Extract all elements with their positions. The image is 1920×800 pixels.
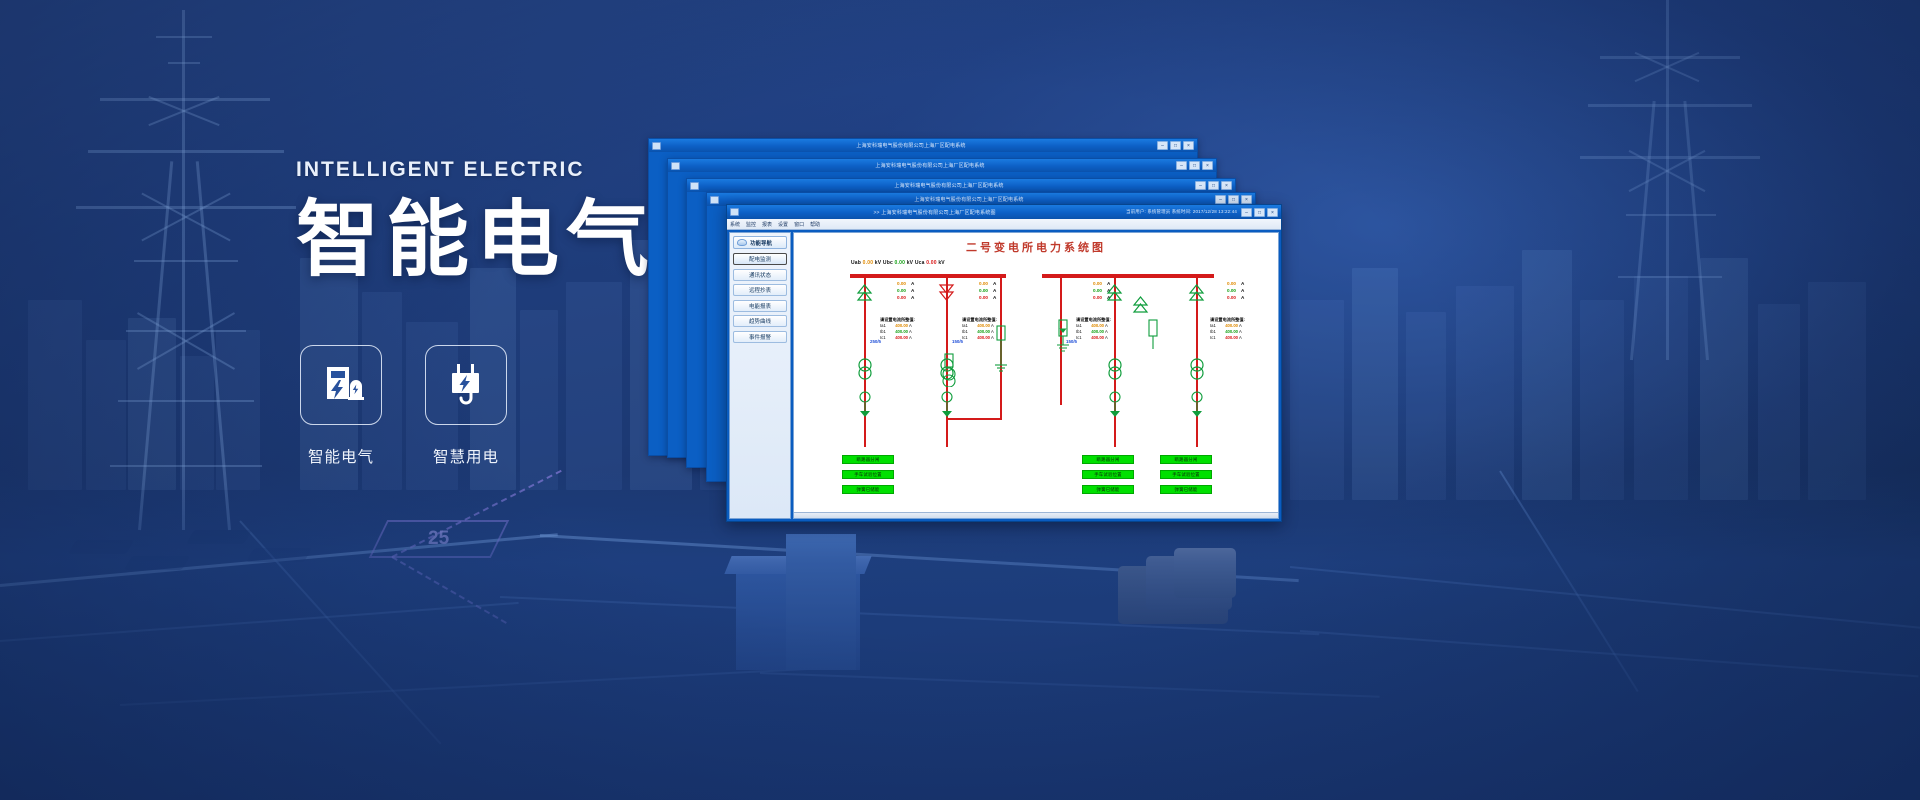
window-3-title: 上海安科瑞电气股份有限公司上海厂区配电系统 — [703, 182, 1195, 189]
disconnector-symbol-4[interactable] — [1188, 283, 1205, 314]
voltage-unit-ubc: kV — [907, 260, 914, 266]
maximize-icon[interactable]: □ — [1189, 161, 1200, 170]
close-icon[interactable]: × — [1241, 195, 1252, 204]
voltage-unit-uab: kV — [875, 260, 882, 266]
close-icon[interactable]: × — [1221, 181, 1232, 190]
menu-item-report[interactable]: 报表 — [762, 221, 772, 228]
sidebar-item-label: 事件报警 — [749, 333, 771, 341]
feature-smart-electric-label: 智能电气 — [308, 445, 374, 467]
main-menubar[interactable]: 系统 监控 报表 设置 窗口 帮助 — [727, 219, 1281, 230]
feeder-4-ic: 0.00 — [1214, 294, 1236, 301]
nav-header-label: 功能导航 — [750, 239, 772, 247]
voltage-value-ubc: 0.00 — [895, 260, 906, 266]
status-chip-breaker-open[interactable]: 断路器分闸 — [842, 455, 894, 464]
disconnector-symbol-1[interactable] — [856, 283, 873, 314]
feeder-2-currents: 0.00A 0.00A 0.00A — [966, 280, 996, 301]
disconnector-symbol-2[interactable] — [938, 283, 955, 314]
window-2-app-icon — [671, 162, 680, 170]
main-window-status: 当前用户: 系统管理员 系统时间: 2017/12/28 13:22:44 — [1126, 209, 1237, 215]
voltage-label-uca: Uca — [915, 260, 925, 266]
bus-voltage-readout: Uab 0.00 kV Ubc 0.00 kV Uca 0.00 kV — [851, 260, 945, 266]
load-arrow-3[interactable] — [1106, 391, 1124, 422]
feeder-3-ib: 0.00 — [1080, 287, 1102, 294]
busbar-right — [1042, 274, 1214, 278]
ct-symbol-4[interactable] — [1188, 357, 1206, 386]
sidebar-item-energy-report[interactable]: 电能报表 — [733, 300, 787, 312]
feeder-4-currents: 0.00A 0.00A 0.00A — [1214, 280, 1244, 301]
feature-smart-power-use-label: 智慧用电 — [433, 445, 499, 467]
feeder-4-ib: 0.00 — [1214, 287, 1236, 294]
status-group-mid: 断路器分闸 手车试验位置 弹簧已储能 — [1082, 455, 1134, 494]
charging-pile-icon — [317, 359, 365, 412]
window-1-titlebar[interactable]: 上海安科瑞电气股份有限公司上海厂区配电系统 – □ × — [649, 139, 1197, 152]
status-chip-spring-charged[interactable]: 弹簧已储能 — [1082, 485, 1134, 494]
status-chip-spring-charged[interactable]: 弹簧已储能 — [1160, 485, 1212, 494]
feeder-1-ic: 0.00 — [884, 294, 906, 301]
function-navigation-pane: 功能导航 配电监测 通讯状态 远程抄表 电能报表 趋势曲线 事件 — [729, 232, 791, 519]
voltage-label-uab: Uab — [851, 260, 861, 266]
main-window-titlebar[interactable]: >> 上海安科瑞电气股份有限公司上海厂区配电系统图 当前用户: 系统管理员 系统… — [727, 205, 1281, 219]
feeder-2-relay-settings: 请设置电流所整值: Ia1400.00 A Ib1400.00 A Ic1400… — [962, 317, 997, 341]
maximize-icon[interactable]: □ — [1208, 181, 1219, 190]
feature-icon-row: 智能电气 智慧用电 — [300, 345, 507, 467]
feeder-1-ct-ratio: 250/5 — [870, 339, 881, 344]
status-chip-breaker-open[interactable]: 断路器分闸 — [1160, 455, 1212, 464]
feeder-1-relay-settings: 请设置电流所整值: Ia1400.00 A Ib1400.00 A Ic1400… — [880, 317, 915, 341]
feeder-4-ia: 0.00 — [1214, 280, 1236, 287]
sidebar-item-label: 远程抄表 — [749, 286, 771, 294]
feeder-1-currents: 0.00A 0.00A 0.00A — [884, 280, 914, 301]
status-chip-truck-test[interactable]: 手车试验位置 — [1160, 470, 1212, 479]
main-window-title: >> 上海安科瑞电气股份有限公司上海厂区配电系统图 — [743, 209, 1126, 216]
menu-item-monitor[interactable]: 监控 — [746, 221, 756, 228]
feature-smart-electric-box — [300, 345, 382, 425]
diagram-title: 二号变电所电力系统图 — [794, 239, 1278, 255]
maximize-icon[interactable]: □ — [1170, 141, 1181, 150]
feeder-3-ia: 0.00 — [1080, 280, 1102, 287]
minimize-icon[interactable]: – — [1176, 161, 1187, 170]
sidebar-item-trend-curve[interactable]: 趋势曲线 — [733, 315, 787, 327]
load-arrow-4[interactable] — [1188, 391, 1206, 422]
feeder-1-ia: 0.00 — [884, 280, 906, 287]
window-3-controls[interactable]: – □ × — [1195, 181, 1232, 190]
window-2-title: 上海安科瑞电气股份有限公司上海厂区配电系统 — [684, 162, 1176, 169]
voltage-value-uab: 0.00 — [863, 260, 874, 266]
ct-symbol-1[interactable] — [856, 357, 874, 386]
window-3-titlebar[interactable]: 上海安科瑞电气股份有限公司上海厂区配电系统 – □ × — [687, 179, 1235, 192]
surge-arrester-symbol[interactable] — [1056, 319, 1070, 364]
close-icon[interactable]: × — [1267, 208, 1278, 217]
window-4-app-icon — [710, 196, 719, 204]
single-line-diagram-canvas[interactable]: 二号变电所电力系统图 Uab 0.00 kV Ubc 0.00 kV Uca 0… — [793, 232, 1279, 519]
sidebar-item-label: 趋势曲线 — [749, 317, 771, 325]
status-chip-spring-charged[interactable]: 弹簧已储能 — [842, 485, 894, 494]
menu-item-settings[interactable]: 设置 — [778, 221, 788, 228]
voltage-transformer-symbol-1[interactable] — [942, 353, 956, 392]
power-plug-icon — [442, 359, 490, 412]
window-4-title: 上海安科瑞电气股份有限公司上海厂区配电系统 — [723, 196, 1215, 203]
close-icon[interactable]: × — [1183, 141, 1194, 150]
close-icon[interactable]: × — [1202, 161, 1213, 170]
feeder-3-ic: 0.00 — [1080, 294, 1102, 301]
nav-header: 功能导航 — [733, 236, 787, 249]
feeder-2-ic: 0.00 — [966, 294, 988, 301]
fuse-symbol-right[interactable] — [1146, 319, 1160, 358]
feeder-1-ib: 0.00 — [884, 287, 906, 294]
status-group-left: 断路器分闸 手车试验位置 弹簧已储能 — [842, 455, 894, 494]
feature-smart-power-use[interactable]: 智慧用电 — [425, 345, 507, 467]
load-arrow-2[interactable] — [938, 391, 956, 422]
sidebar-item-comm-status[interactable]: 通讯状态 — [733, 269, 787, 281]
navigation-icon — [737, 239, 747, 246]
menu-item-system[interactable]: 系统 — [730, 221, 740, 228]
menu-item-help[interactable]: 帮助 — [810, 221, 820, 228]
minimize-icon[interactable]: – — [1195, 181, 1206, 190]
window-2-controls[interactable]: – □ × — [1176, 161, 1213, 170]
load-arrow-1[interactable] — [856, 391, 874, 422]
busbar-left — [850, 274, 1006, 278]
feature-smart-electric[interactable]: 智能电气 — [300, 345, 382, 467]
sidebar-item-label: 通讯状态 — [749, 271, 771, 279]
feature-smart-power-use-box — [425, 345, 507, 425]
sidebar-item-remote-meter-reading[interactable]: 远程抄表 — [733, 284, 787, 296]
disconnector-symbol-5[interactable] — [1132, 295, 1149, 322]
status-group-right: 断路器分闸 手车试验位置 弹簧已储能 — [1160, 455, 1212, 494]
window-1-app-icon — [652, 142, 661, 150]
menu-item-window[interactable]: 窗口 — [794, 221, 804, 228]
sidebar-item-power-monitoring[interactable]: 配电监测 — [733, 253, 787, 265]
status-chip-truck-test[interactable]: 手车试验位置 — [1082, 470, 1134, 479]
window-2-titlebar[interactable]: 上海安科瑞电气股份有限公司上海厂区配电系统 – □ × — [668, 159, 1216, 172]
feeder-2-ia: 0.00 — [966, 280, 988, 287]
feeder-3-relay-settings: 请设置电流所整值: Ia1400.00 A Ib1400.00 A Ic1400… — [1076, 317, 1111, 341]
main-app-icon — [730, 208, 739, 216]
disconnector-symbol-3[interactable] — [1106, 283, 1123, 314]
minimize-icon[interactable]: – — [1241, 208, 1252, 217]
window-1-controls[interactable]: – □ × — [1157, 141, 1194, 150]
canvas-horizontal-scrollbar[interactable] — [794, 512, 1278, 518]
main-window-controls[interactable]: – □ × — [1241, 208, 1278, 217]
main-application-window[interactable]: >> 上海安科瑞电气股份有限公司上海厂区配电系统图 当前用户: 系统管理员 系统… — [726, 204, 1282, 522]
sidebar-item-label: 电能报表 — [749, 302, 771, 310]
feeder-4-relay-settings: 请设置电流所整值: Ia1400.00 A Ib1400.00 A Ic1400… — [1210, 317, 1245, 341]
voltage-value-uca: 0.00 — [926, 260, 937, 266]
status-chip-breaker-open[interactable]: 断路器分闸 — [1082, 455, 1134, 464]
voltage-unit-uca: kV — [938, 260, 945, 266]
voltage-transformer-symbol-2[interactable] — [994, 325, 1008, 378]
maximize-icon[interactable]: □ — [1254, 208, 1265, 217]
sidebar-item-label: 配电监测 — [749, 255, 771, 263]
window-3-app-icon — [690, 182, 699, 190]
feeder-2-ct-ratio: 150/5 — [952, 339, 963, 344]
window-4-controls[interactable]: – □ × — [1215, 195, 1252, 204]
sidebar-item-event-alarm[interactable]: 事件报警 — [733, 331, 787, 343]
ct-symbol-3[interactable] — [1106, 357, 1124, 386]
status-chip-truck-test[interactable]: 手车试验位置 — [842, 470, 894, 479]
voltage-label-ubc: Ubc — [883, 260, 893, 266]
window-1-title: 上海安科瑞电气股份有限公司上海厂区配电系统 — [665, 142, 1157, 149]
minimize-icon[interactable]: – — [1157, 141, 1168, 150]
minimize-icon[interactable]: – — [1215, 195, 1226, 204]
feeder-2-ib: 0.00 — [966, 287, 988, 294]
maximize-icon[interactable]: □ — [1228, 195, 1239, 204]
